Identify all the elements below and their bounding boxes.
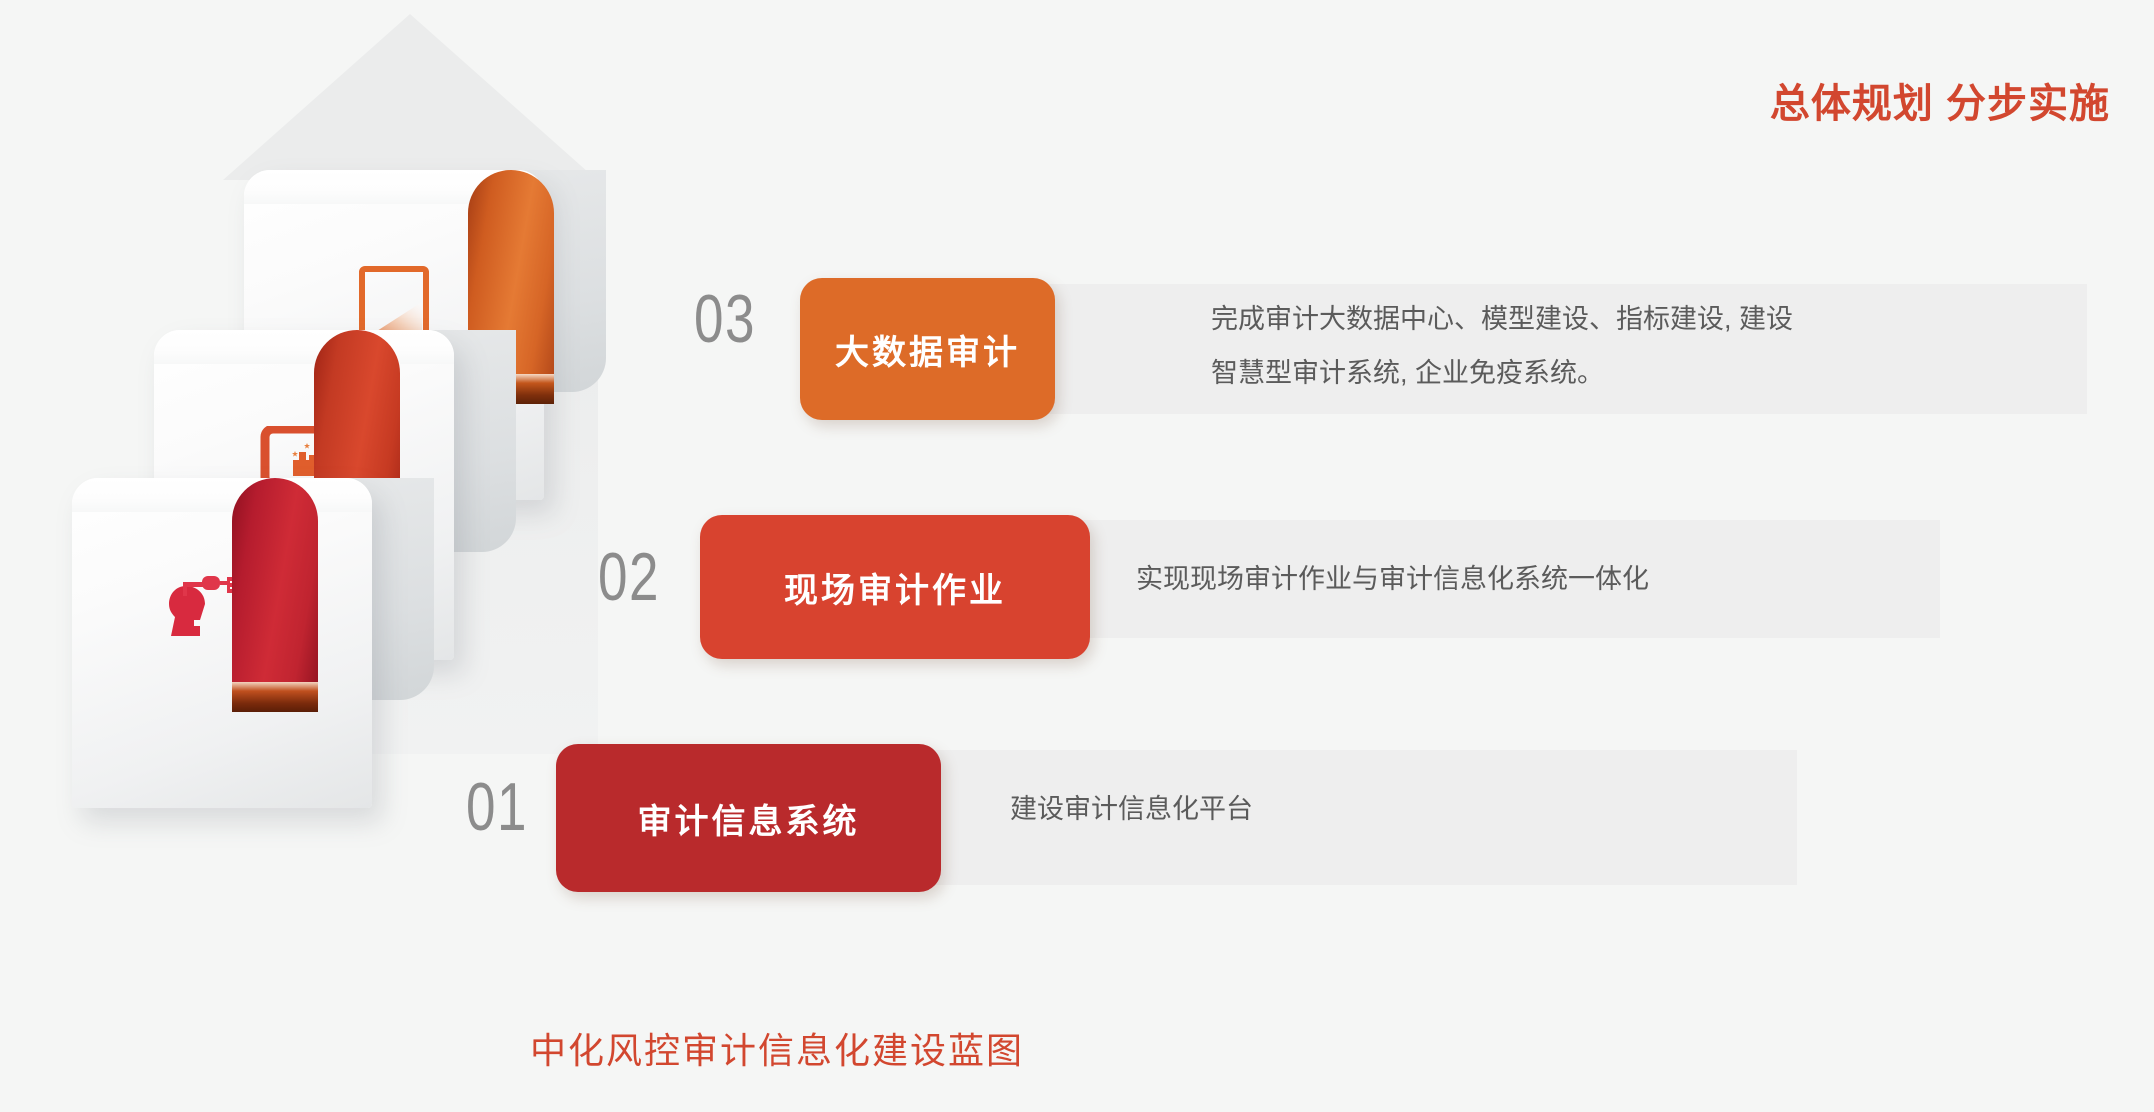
card-sheen (72, 478, 372, 512)
caption: 中化风控审计信息化建设蓝图 (0, 1022, 2154, 1074)
ribbon-fold-shadow (232, 682, 318, 712)
step-description-01: 建设审计信息化平台 (1010, 782, 1810, 836)
infographic-canvas: 总体规划 分步实施 (0, 0, 2154, 1112)
two-heads-plug-connection-icon (72, 574, 372, 652)
caption-text: 中化风控审计信息化建设蓝图 (530, 1022, 1024, 1074)
step-number-01: 01 (466, 768, 528, 846)
step-card-1[interactable] (72, 478, 372, 808)
ribbon-tab-1 (232, 478, 318, 686)
step-description-03: 完成审计大数据中心、模型建设、指标建设, 建设 智慧型审计系统, 企业免疫系统。 (1211, 292, 2011, 400)
step-number-02: 02 (598, 538, 660, 616)
arrow-head (223, 14, 597, 180)
step-number-03: 03 (694, 280, 756, 358)
card-sheen (154, 330, 454, 364)
ribbon-body (232, 478, 318, 686)
step-label-02[interactable]: 现场审计作业 (700, 515, 1090, 659)
step-description-02: 实现现场审计作业与审计信息化系统一体化 (1136, 552, 1936, 606)
step-label-01[interactable]: 审计信息系统 (556, 744, 941, 892)
page-title: 总体规划 分步实施 (1770, 71, 2110, 129)
step-label-03[interactable]: 大数据审计 (800, 278, 1055, 420)
